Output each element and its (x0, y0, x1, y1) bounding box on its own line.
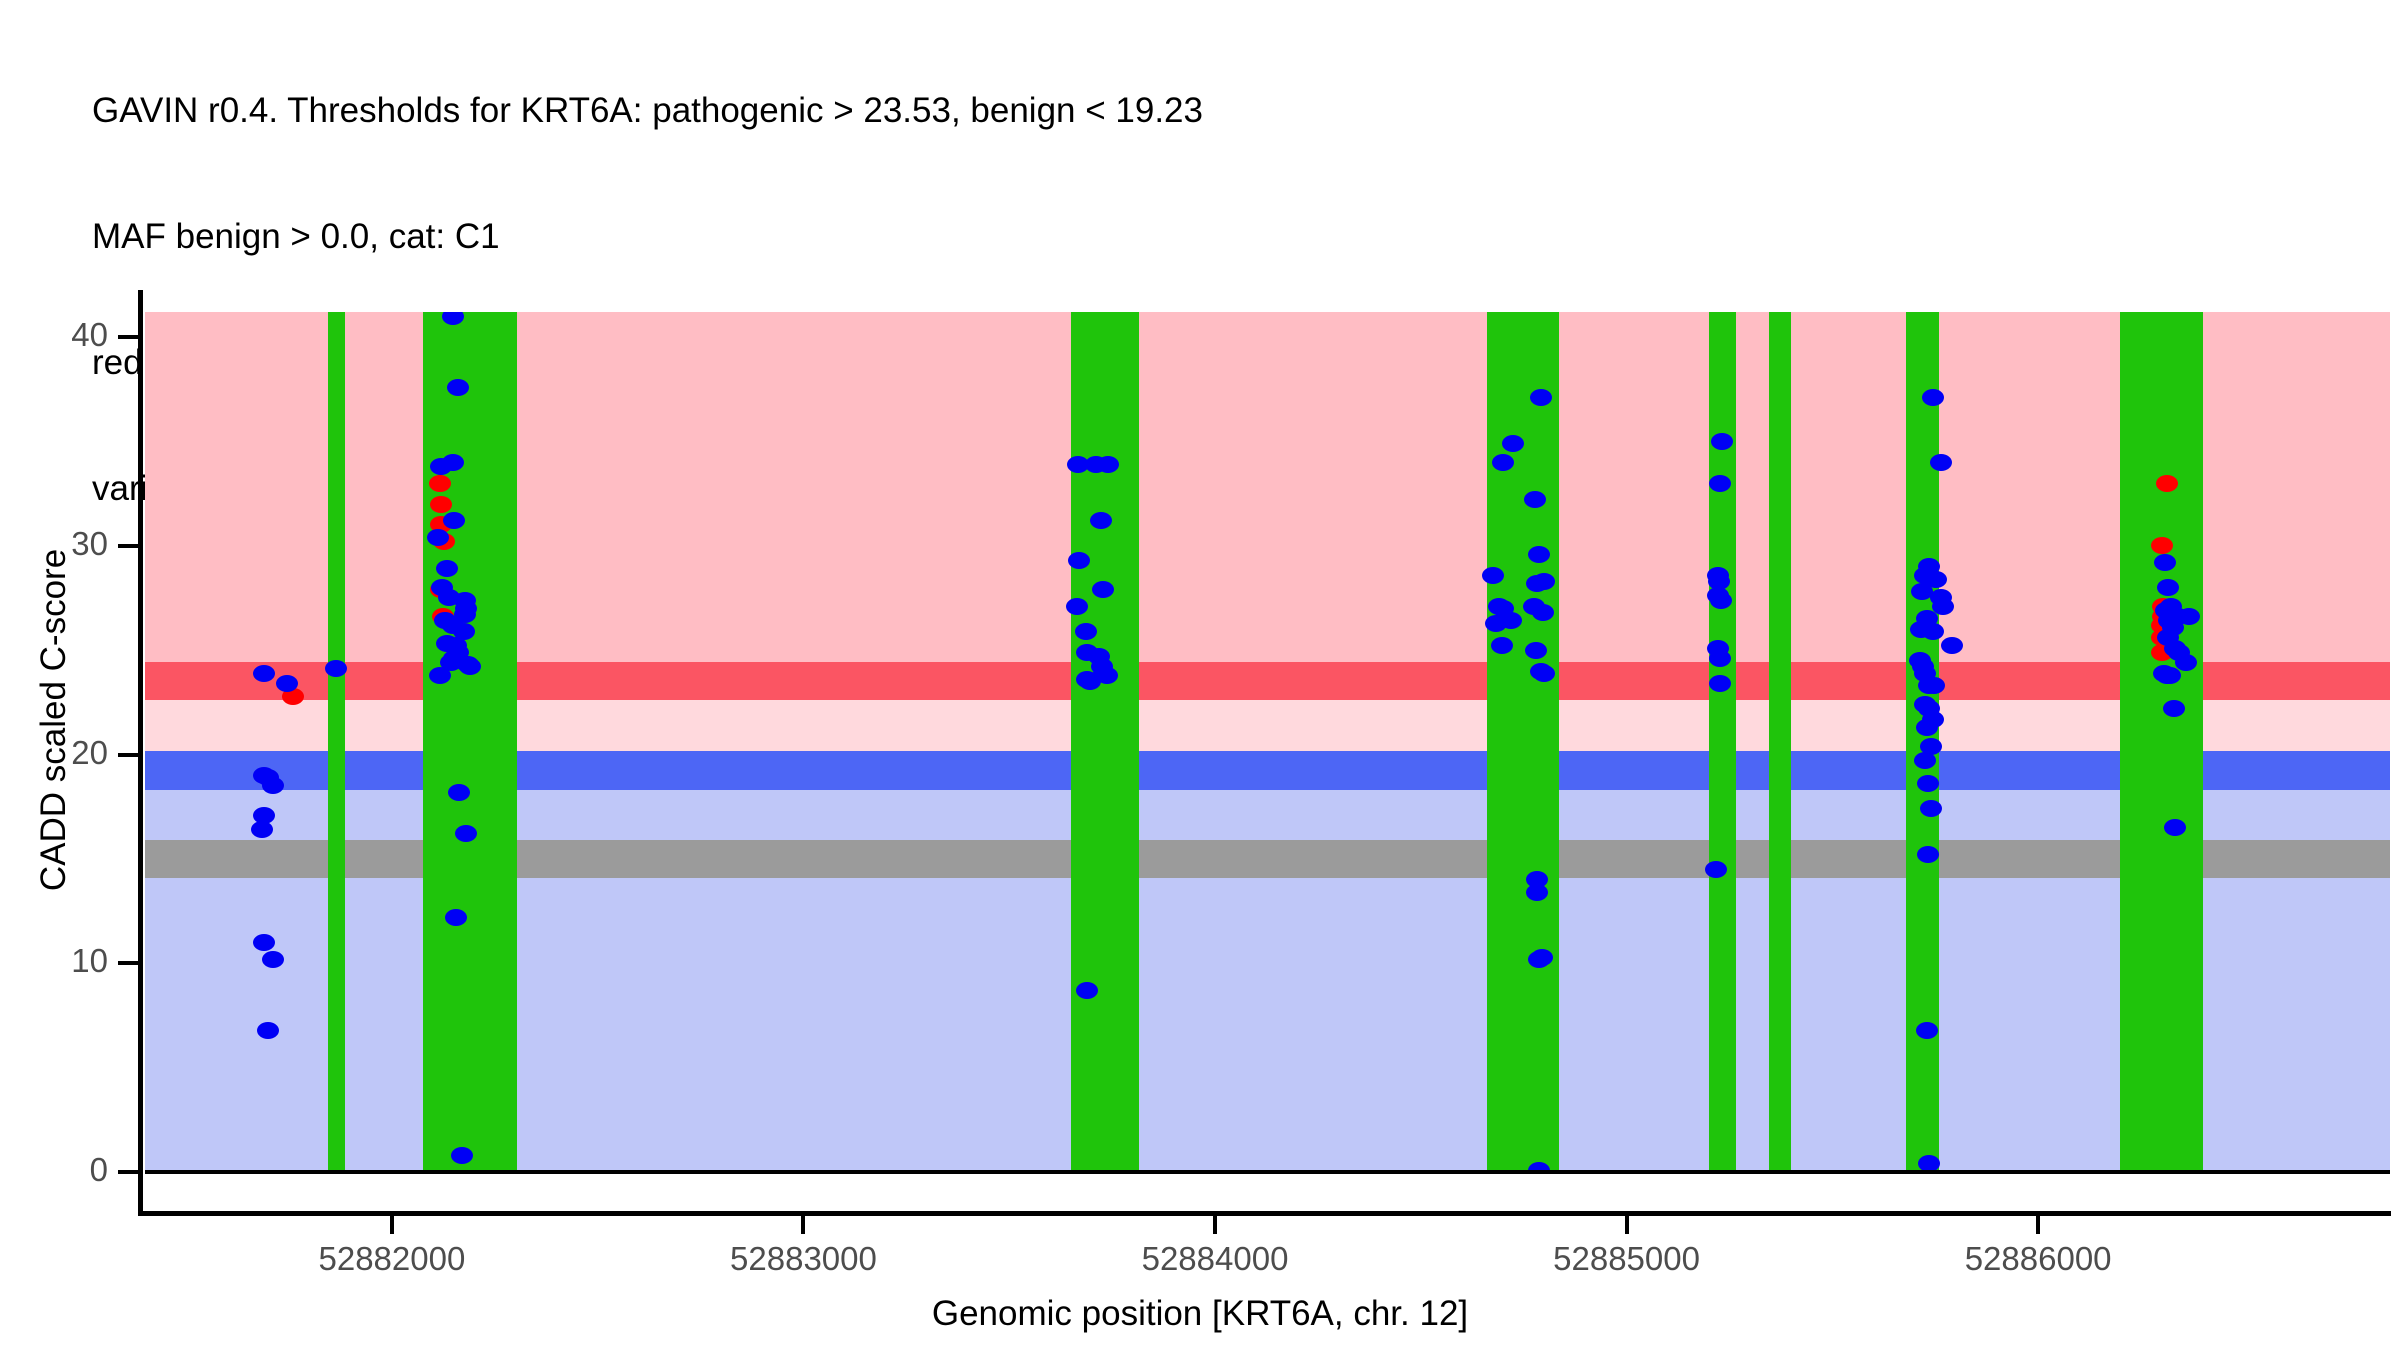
gnomad-variant-point (427, 529, 449, 546)
gnomad-variant-point (447, 379, 469, 396)
clinvar-variant-point (2156, 475, 2178, 492)
gnomad-variant-point (448, 784, 470, 801)
y-tick (118, 961, 138, 965)
x-tick (801, 1216, 805, 1234)
gnomad-variant-point (1532, 604, 1554, 621)
gnomad-variant-point (2164, 819, 2186, 836)
gnomad-variant-point (257, 1022, 279, 1039)
x-tick-label: 52882000 (242, 1240, 542, 1278)
x-axis-title: Genomic position [KRT6A, chr. 12] (0, 1294, 2400, 1334)
gnomad-variant-point (451, 1147, 473, 1164)
y-tick (118, 544, 138, 548)
gnomad-variant-point (1485, 615, 1507, 632)
y-axis-line (138, 290, 143, 1215)
gnomad-variant-point (1709, 675, 1731, 692)
gnomad-variant-point (262, 951, 284, 968)
x-axis-line (138, 1211, 2391, 1216)
y-tick (118, 335, 138, 339)
gnomad-variant-point (1710, 592, 1732, 609)
title-line-1: GAVIN r0.4. Thresholds for KRT6A: pathog… (92, 90, 2342, 132)
gnomad-variant-point (2159, 667, 2181, 684)
gnomad-variant-point (1482, 567, 1504, 584)
gnomad-variant-point (429, 667, 451, 684)
gnomad-variant-point (1090, 512, 1112, 529)
gnomad-variant-point (1711, 433, 1733, 450)
gnomad-variant-point (253, 665, 275, 682)
x-tick (1213, 1216, 1217, 1234)
y-axis-title: CADD scaled C-score (34, 320, 74, 1120)
x-tick-label: 52885000 (1477, 1240, 1777, 1278)
exon-bar (2120, 312, 2202, 1172)
gnomad-variant-point (276, 675, 298, 692)
gnomad-variant-point (1097, 456, 1119, 473)
gnomad-variant-point (1533, 665, 1555, 682)
gnomad-variant-point (1492, 454, 1514, 471)
exon-bar (328, 312, 344, 1172)
exon-bar (1769, 312, 1792, 1172)
clinvar-variant-point (429, 475, 451, 492)
gnomad-variant-point (2178, 608, 2200, 625)
clinvar-variant-point (430, 496, 452, 513)
exon-bar (423, 312, 518, 1172)
x-tick (2036, 1216, 2040, 1234)
y-tick (118, 1170, 138, 1174)
x-tick (390, 1216, 394, 1234)
gnomad-variant-point (1526, 884, 1548, 901)
gnomad-variant-point (445, 909, 467, 926)
gnomad-variant-point (2157, 579, 2179, 596)
gnomad-variant-point (1068, 552, 1090, 569)
gnomad-variant-point (1530, 389, 1552, 406)
gnomad-variant-point (1917, 846, 1939, 863)
panel-baseline (145, 1170, 2390, 1174)
gnomad-variant-point (1916, 719, 1938, 736)
gnomad-variant-point (1066, 598, 1088, 615)
gnomad-variant-point (1075, 623, 1097, 640)
y-tick (118, 753, 138, 757)
gnomad-variant-point (1930, 454, 1952, 471)
exon-bar (1071, 312, 1139, 1172)
x-tick-label: 52886000 (1888, 1240, 2188, 1278)
title-line-2: MAF benign > 0.0, cat: C1 (92, 216, 2342, 258)
gnomad-variant-point (1525, 642, 1547, 659)
plot-panel (145, 312, 2390, 1172)
x-tick (1625, 1216, 1629, 1234)
y-tick-label: 0 (0, 1151, 108, 1189)
gnomad-variant-point (1531, 949, 1553, 966)
gnomad-variant-point (1533, 573, 1555, 590)
gnomad-variant-point (1922, 623, 1944, 640)
clinvar-variant-point (2151, 537, 2173, 554)
gnomad-variant-point (1705, 861, 1727, 878)
x-tick-label: 52883000 (653, 1240, 953, 1278)
gnomad-variant-point (2154, 554, 2176, 571)
gnomad-variant-point (1709, 475, 1731, 492)
gnomad-variant-point (1916, 1022, 1938, 1039)
x-tick-label: 52884000 (1065, 1240, 1365, 1278)
chart-root: GAVIN r0.4. Thresholds for KRT6A: pathog… (0, 0, 2400, 1350)
gnomad-variant-point (2163, 700, 2185, 717)
gnomad-variant-point (1528, 546, 1550, 563)
gnomad-variant-point (443, 512, 465, 529)
gnomad-variant-point (1502, 435, 1524, 452)
